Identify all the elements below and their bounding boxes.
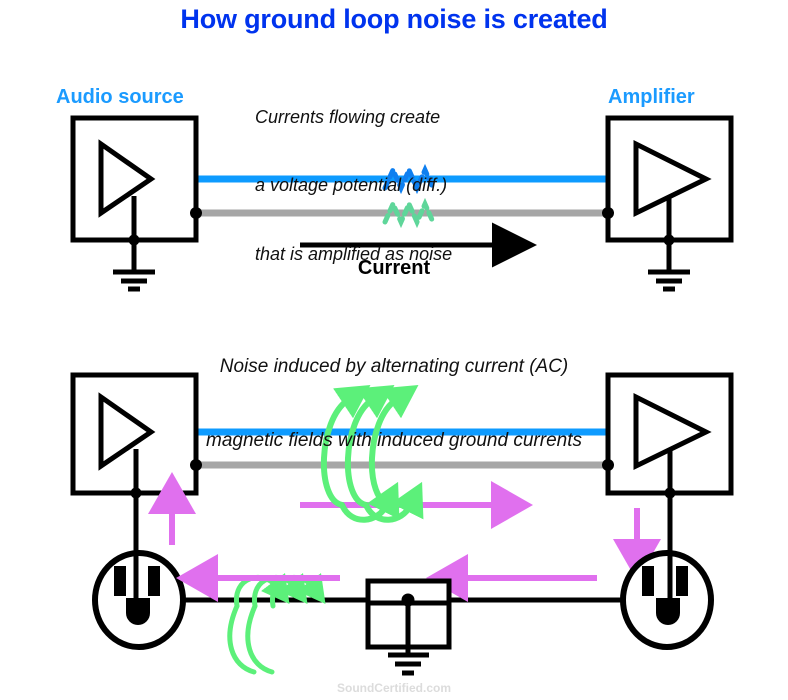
- note-bottom-diagram: Noise induced by alternating current (AC…: [0, 306, 788, 504]
- junction-dot: [190, 207, 202, 219]
- outlet-slot: [642, 566, 654, 596]
- magnetic-field-loops-lower: [230, 577, 312, 672]
- outlet-slot: [148, 566, 160, 596]
- junction-dot: [664, 235, 675, 246]
- page-title: How ground loop noise is created: [0, 4, 788, 35]
- label-amplifier: Amplifier: [608, 86, 695, 109]
- outlet-slot: [114, 566, 126, 596]
- note-mid-line-2: magnetic fields with induced ground curr…: [0, 429, 788, 454]
- earth-ground-symbol: [388, 655, 429, 673]
- note-top-line-1: Currents flowing create: [255, 106, 555, 129]
- junction-dot: [129, 235, 140, 246]
- outlet-slot: [676, 566, 688, 596]
- junction-dot: [402, 594, 415, 607]
- note-top-line-2: a voltage potential (diff.): [255, 174, 555, 197]
- ground-bonding-box: [368, 581, 449, 673]
- label-audio-source: Audio source: [56, 86, 184, 109]
- junction-dot: [602, 207, 614, 219]
- label-current: Current: [0, 257, 788, 280]
- note-mid-line-1: Noise induced by alternating current (AC…: [0, 355, 788, 380]
- diagram-canvas: How ground loop noise is created Audio s…: [0, 0, 788, 700]
- ac-wall-outlet-left: [95, 553, 183, 647]
- ac-wall-outlet-right: [623, 553, 711, 647]
- watermark: SoundCertified.com: [0, 681, 788, 695]
